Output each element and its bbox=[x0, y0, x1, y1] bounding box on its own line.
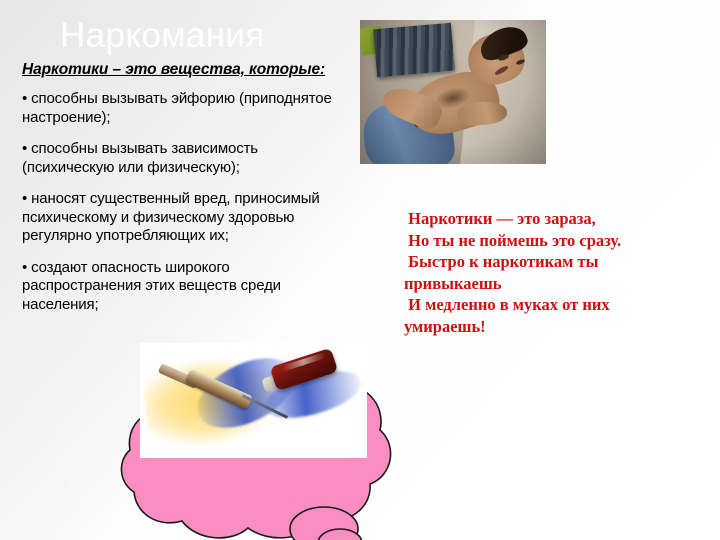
list-item-text: наносят существенный вред, приносимый пс… bbox=[22, 190, 320, 244]
poem-line: умираешь! bbox=[404, 316, 704, 338]
list-item-text: способны вызывать эйфорию (приподнятое н… bbox=[22, 90, 332, 126]
poem-line: Быстро к наркотикам ты bbox=[404, 251, 704, 273]
lead-in-statement: Наркотики – это вещества, которые: bbox=[22, 60, 340, 79]
slide-canvas: Наркомания Наркотики – это вещества, кот… bbox=[0, 0, 720, 540]
list-item: • наносят существенный вред, приносимый … bbox=[22, 190, 340, 246]
list-item-text: способны вызывать зависимость (психическ… bbox=[22, 140, 258, 176]
poem-line: И медленно в муках от них bbox=[404, 294, 704, 316]
bullet-icon: • bbox=[22, 259, 27, 276]
photo-man-on-ground bbox=[360, 20, 546, 164]
bullet-icon: • bbox=[22, 190, 27, 207]
thought-bubble-medium bbox=[318, 529, 362, 540]
poem-line: Но ты не поймешь это сразу. bbox=[404, 230, 704, 252]
list-item: • создают опасность широкого распростран… bbox=[22, 259, 340, 315]
photo-syringe-ampoule bbox=[140, 343, 367, 458]
list-item: • способны вызывать зависимость (психиче… bbox=[22, 140, 340, 177]
page-title: Наркомания bbox=[60, 16, 390, 56]
poem-line: привыкаешь bbox=[404, 273, 704, 295]
list-item-text: создают опасность широкого распространен… bbox=[22, 259, 281, 313]
list-item: • способны вызывать эйфорию (приподнятое… bbox=[22, 90, 340, 127]
poem-block: Наркотики — это зараза, Но ты не поймешь… bbox=[404, 208, 704, 337]
poem-line: Наркотики — это зараза, bbox=[404, 208, 704, 230]
body-text-column: Наркотики – это вещества, которые: • спо… bbox=[22, 60, 340, 327]
thought-bubble-large bbox=[290, 507, 358, 540]
bullet-icon: • bbox=[22, 90, 27, 107]
bullet-icon: • bbox=[22, 140, 27, 157]
photo-vignette bbox=[360, 20, 546, 164]
